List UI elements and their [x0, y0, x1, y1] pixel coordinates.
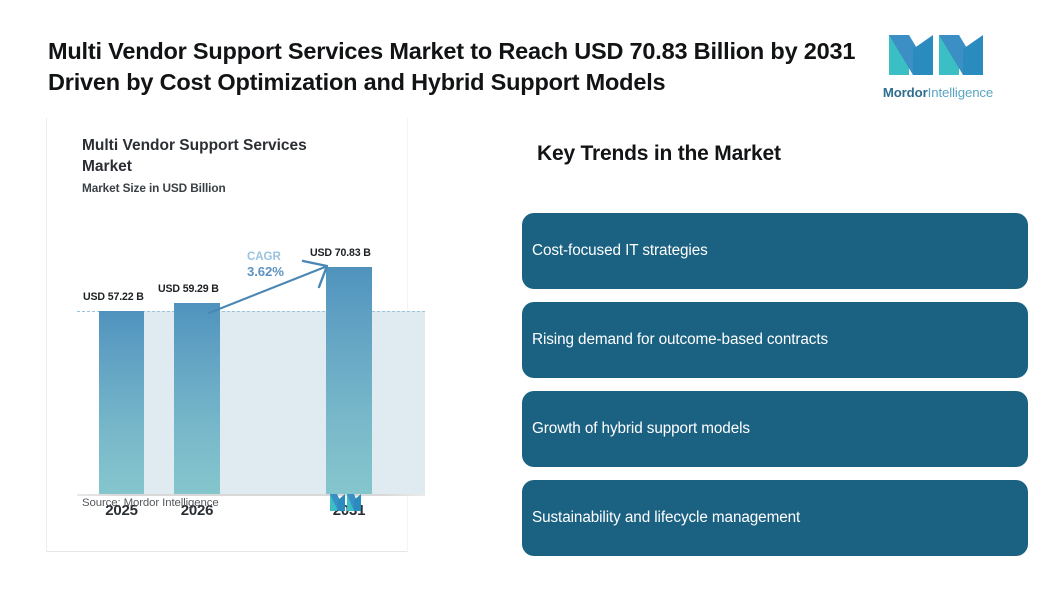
header: Multi Vendor Support Services Market to …: [0, 0, 1056, 116]
market-size-chart-card: Multi Vendor Support Services Market Mar…: [46, 118, 408, 552]
trend-card-4[interactable]: Sustainability and lifecycle management: [522, 480, 1028, 556]
brand-logo: MordorIntelligence: [874, 29, 1002, 107]
page-title: Multi Vendor Support Services Market to …: [48, 36, 860, 99]
bar-2026: [174, 303, 220, 494]
x-axis-line: [77, 494, 425, 496]
trend-card-label: Cost-focused IT strategies: [522, 242, 708, 260]
growth-arrow-icon: [207, 257, 339, 317]
mordor-m-logo-icon: [887, 29, 987, 81]
key-trends-title: Key Trends in the Market: [537, 142, 781, 166]
bar-value-label-2025: USD 57.22 B: [83, 291, 144, 303]
trend-card-label: Rising demand for outcome-based contract…: [522, 331, 828, 349]
trend-card-2[interactable]: Rising demand for outcome-based contract…: [522, 302, 1028, 378]
bar-2025: [99, 311, 144, 494]
chart-background-band: [99, 311, 425, 494]
key-trends-list: Cost-focused IT strategies Rising demand…: [522, 213, 1028, 569]
brand-word-mordor: Mordor: [883, 85, 928, 100]
slide-root: Multi Vendor Support Services Market to …: [0, 0, 1056, 594]
trend-card-3[interactable]: Growth of hybrid support models: [522, 391, 1028, 467]
brand-word-intelligence: Intelligence: [928, 85, 994, 100]
trend-card-label: Growth of hybrid support models: [522, 420, 750, 438]
brand-wordmark: MordorIntelligence: [874, 85, 1002, 100]
trend-card-1[interactable]: Cost-focused IT strategies: [522, 213, 1028, 289]
bar-chart-plot: USD 57.22 B USD 59.29 B USD 70.83 B CAGR…: [47, 118, 409, 552]
source-mordor-m-logo-icon: [330, 493, 361, 512]
chart-source: Source: Mordor Intelligence: [82, 497, 219, 509]
trend-card-label: Sustainability and lifecycle management: [522, 509, 800, 527]
